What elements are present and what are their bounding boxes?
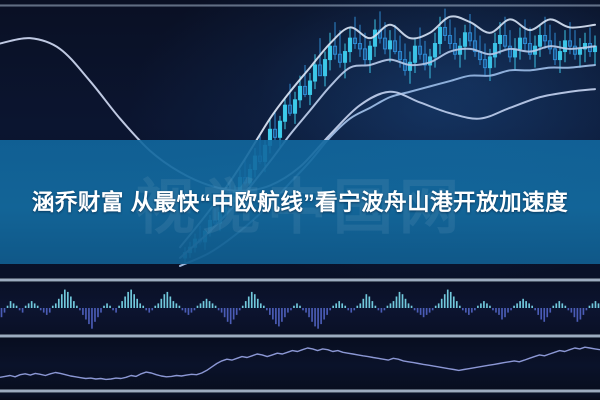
lower-indicator-panel bbox=[0, 338, 600, 389]
macd-histogram-svg bbox=[0, 282, 600, 334]
page-title: 涵乔财富 从最快“中欧航线”看宁波舟山港开放加速度 bbox=[10, 185, 590, 220]
footer-strip bbox=[0, 393, 600, 400]
top-divider bbox=[0, 4, 600, 7]
stock-chart-image: 视觉中国网 涵乔财富 从最快“中欧航线”看宁波舟山港开放加速度 bbox=[0, 0, 600, 400]
macd-histogram-panel bbox=[0, 282, 600, 334]
lower-indicator-svg bbox=[0, 338, 600, 389]
title-banner: 视觉中国网 涵乔财富 从最快“中欧航线”看宁波舟山港开放加速度 bbox=[0, 140, 600, 264]
